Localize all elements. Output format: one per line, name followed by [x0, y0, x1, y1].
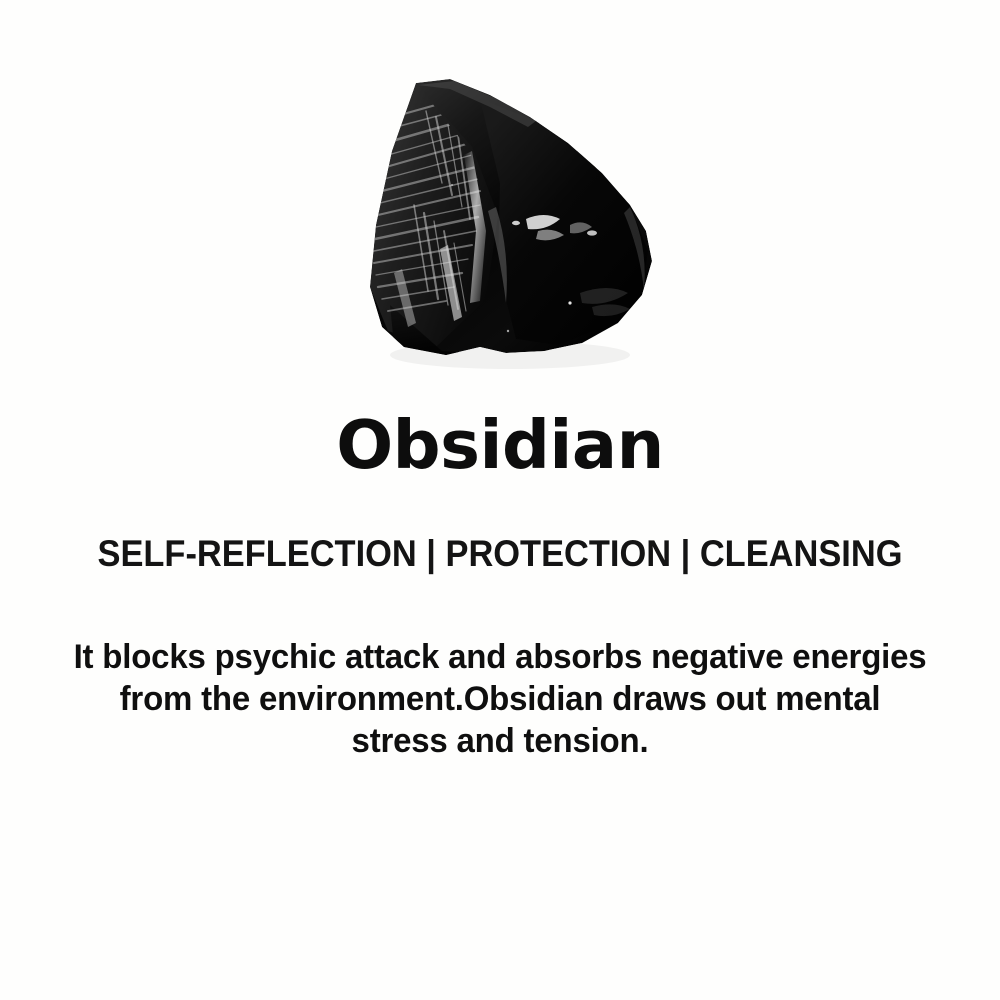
page-title: Obsidian: [0, 404, 1000, 486]
description-block: It blocks psychic attack and absorbs neg…: [20, 636, 980, 762]
keywords-line: SELF-REFLECTION | PROTECTION | CLEANSING: [35, 530, 965, 578]
stone-image-container: [0, 0, 1000, 400]
description-line-3: stress and tension.: [34, 720, 965, 762]
description-line-2: from the environment.Obsidian draws out …: [34, 678, 965, 720]
description-line-1: It blocks psychic attack and absorbs neg…: [34, 636, 965, 678]
obsidian-stone-photo: [330, 55, 690, 375]
crystal-info-card: Obsidian SELF-REFLECTION | PROTECTION | …: [0, 0, 1000, 1000]
